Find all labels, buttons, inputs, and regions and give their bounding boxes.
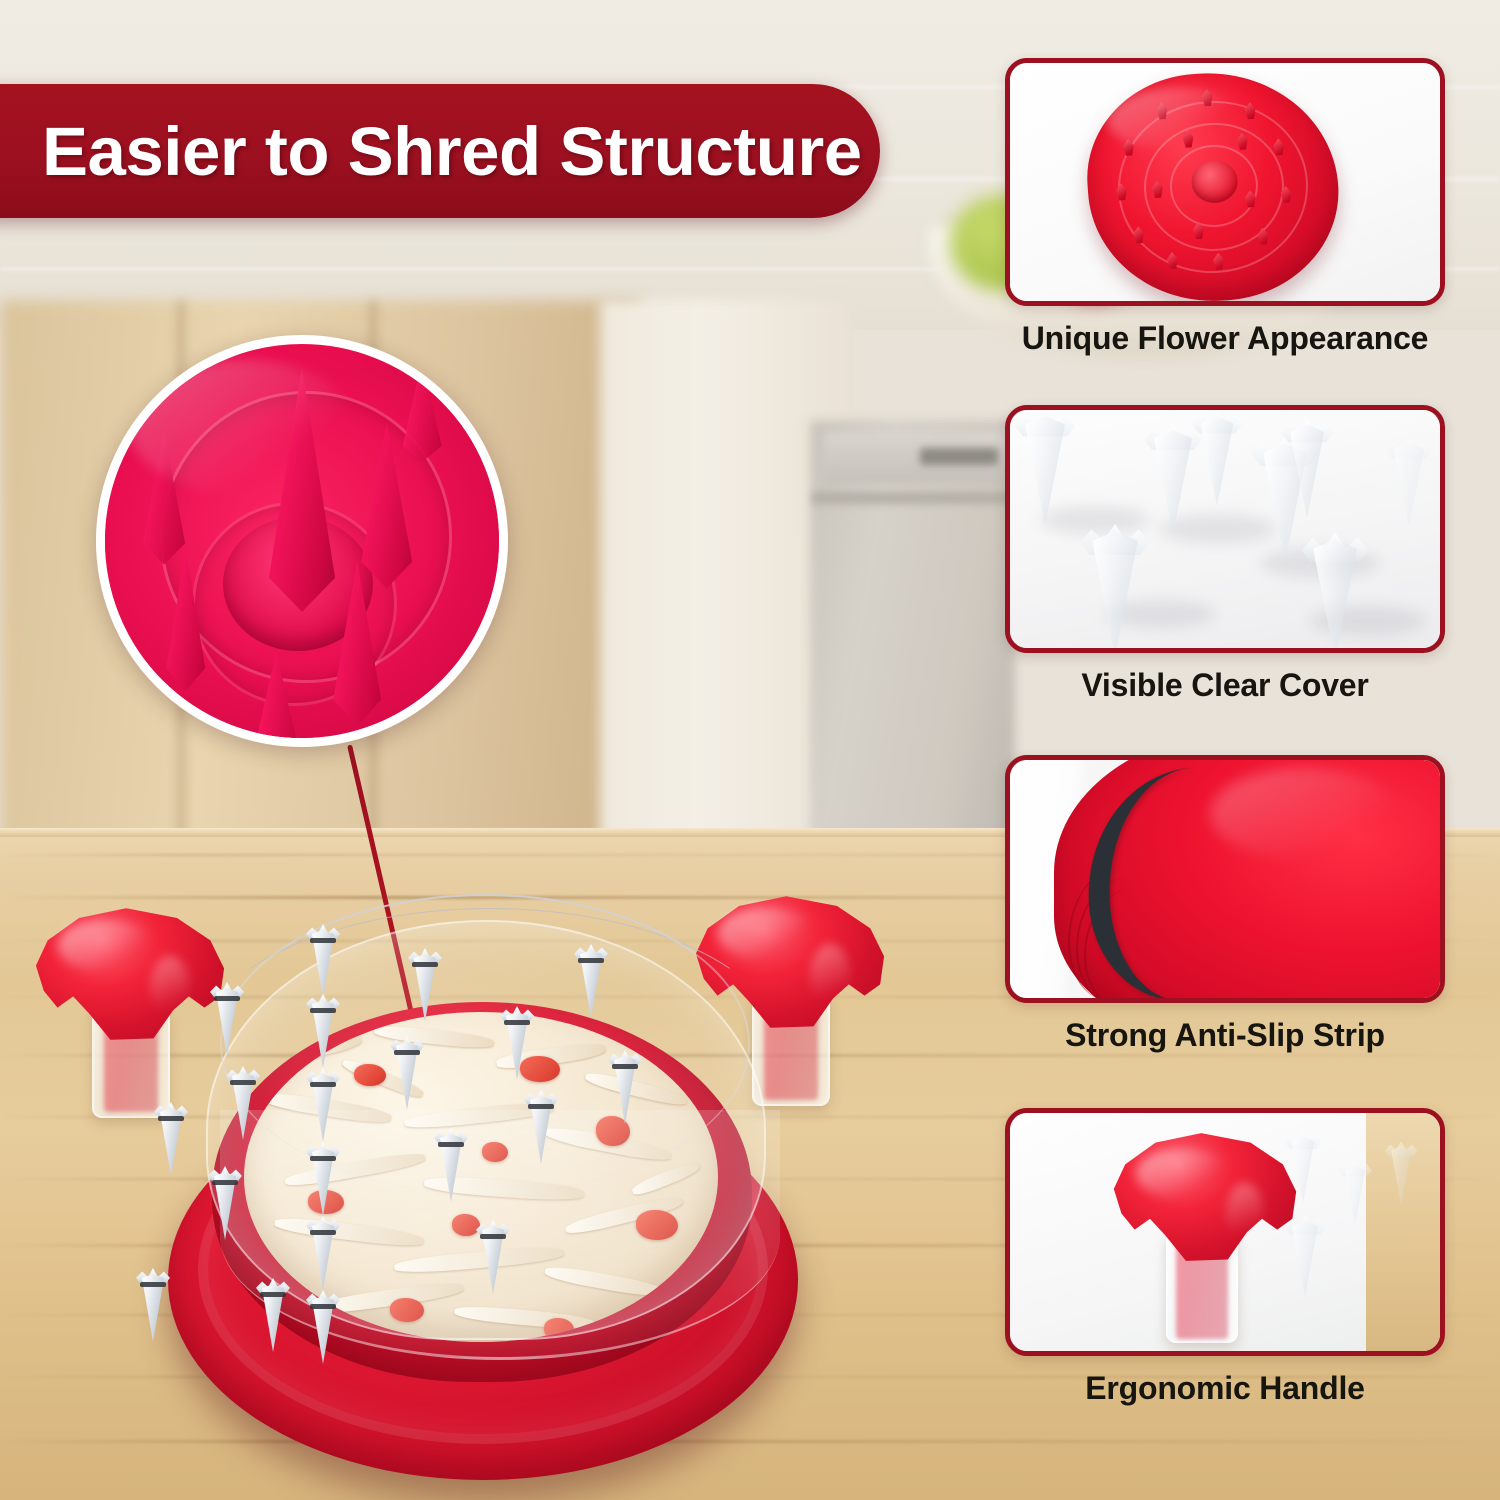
- tomato-piece: [308, 1190, 344, 1214]
- left-handle[interactable]: [30, 898, 230, 1118]
- tomato-piece: [354, 1064, 386, 1086]
- thumb-red-mushroom-handle[interactable]: [1005, 1108, 1445, 1356]
- shredded-chicken: [244, 1012, 718, 1342]
- feature-caption: Ergonomic Handle: [1005, 1370, 1445, 1407]
- thumb-black-anti-slip-strip[interactable]: [1005, 755, 1445, 1003]
- clear-cone: [1302, 523, 1369, 653]
- tomato-piece: [544, 1318, 574, 1340]
- clear-cone: [1080, 514, 1150, 653]
- tomato-piece: [452, 1214, 480, 1236]
- page-title: Easier to Shred Structure: [42, 112, 862, 191]
- thumb-clear-cone-blades[interactable]: [1005, 405, 1445, 653]
- clear-cone: [1192, 405, 1242, 506]
- feature-panel-list: Unique Flower Appearance Visible Clear C…: [1005, 0, 1500, 1500]
- dishwasher-handle: [812, 492, 1012, 504]
- feature-visible-clear-cover[interactable]: Visible Clear Cover: [1005, 405, 1445, 704]
- ergonomic-handle: [1110, 1129, 1300, 1347]
- feature-strong-anti-slip-strip[interactable]: Strong Anti-Slip Strip: [1005, 755, 1445, 1054]
- clear-cone: [1281, 412, 1333, 518]
- feature-caption: Strong Anti-Slip Strip: [1005, 1017, 1445, 1054]
- clear-cone: [1386, 432, 1432, 526]
- cover-spike: [574, 938, 608, 1018]
- tomato-piece: [636, 1210, 678, 1240]
- tomato-piece: [390, 1298, 424, 1322]
- feature-ergonomic-handle[interactable]: Ergonomic Handle: [1005, 1108, 1445, 1407]
- thumb-red-flower-disc[interactable]: [1005, 58, 1445, 306]
- clear-cone: [1015, 405, 1076, 525]
- tomato-piece: [482, 1142, 508, 1162]
- clear-cone: [1385, 1137, 1417, 1204]
- tomato-piece: [596, 1116, 630, 1146]
- title-banner: Easier to Shred Structure: [0, 84, 880, 218]
- right-handle[interactable]: [690, 886, 890, 1106]
- chicken-shredder-bowl: [30, 880, 930, 1500]
- tomato-piece: [520, 1056, 560, 1082]
- dishwasher-display: [920, 448, 998, 465]
- feature-unique-flower-appearance[interactable]: Unique Flower Appearance: [1005, 58, 1445, 357]
- clear-cone: [1338, 1156, 1371, 1225]
- dishwasher: [810, 420, 1015, 860]
- shred-structure-closeup: [96, 335, 508, 747]
- cover-spike: [136, 1262, 170, 1342]
- feature-caption: Unique Flower Appearance: [1005, 320, 1445, 357]
- feature-caption: Visible Clear Cover: [1005, 667, 1445, 704]
- cover-spike: [306, 918, 340, 998]
- handle-knob: [1110, 1129, 1300, 1265]
